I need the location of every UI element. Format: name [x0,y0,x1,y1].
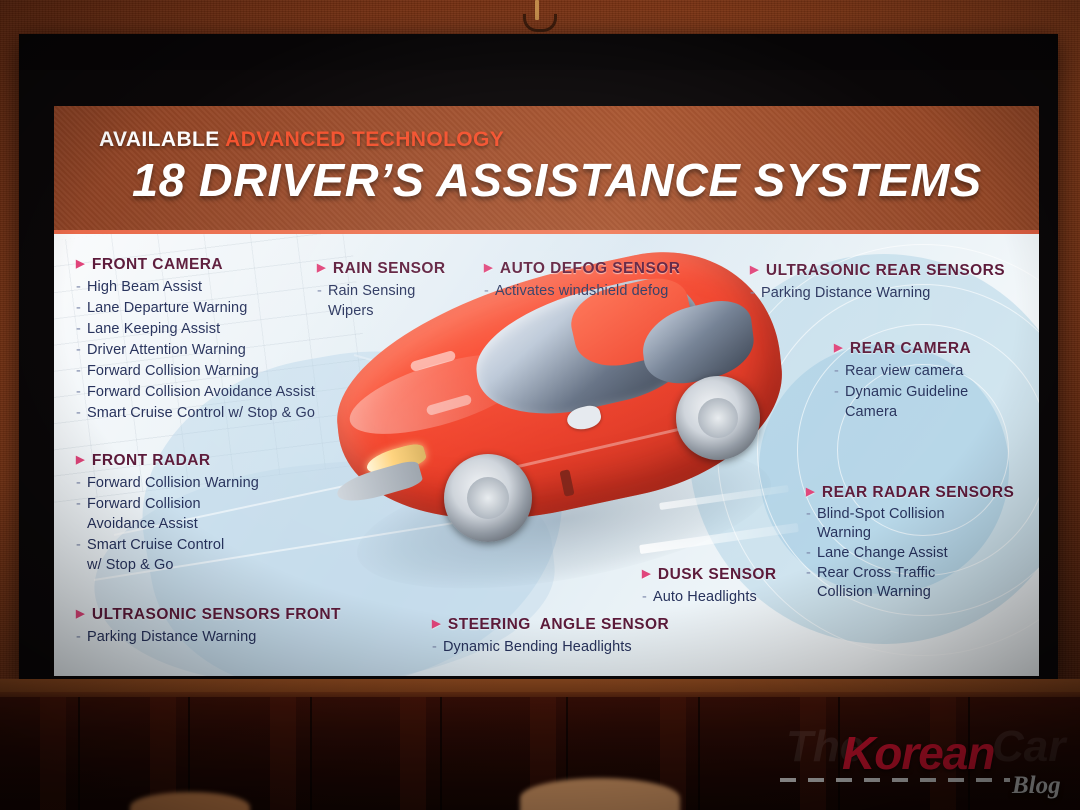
callout-title: ▶REAR CAMERA [834,340,1034,358]
slide-kicker: AVAILABLE ADVANCED TECHNOLOGY [99,128,504,152]
triangle-marker-icon: ▶ [76,452,85,469]
callout-list: -Parking Distance Warning [750,283,1030,303]
triangle-marker-icon: ▶ [317,260,326,277]
callout-title: ▶ULTRASONIC REAR SENSORS [750,262,1030,280]
callout-rear-camera: ▶REAR CAMERA -Rear view camera -Dynamic … [834,340,1034,423]
callout-title: ▶RAIN SENSOR [317,260,467,278]
list-item: -Blind-Spot Collision Warning [806,505,1021,543]
triangle-marker-icon: ▶ [806,484,815,501]
callout-title: ▶REAR RADAR SENSORS [806,484,1021,502]
triangle-marker-icon: ▶ [750,262,759,279]
list-item: -Smart Cruise Control w/ Stop & Go [76,403,376,423]
kicker-available: AVAILABLE [99,128,220,151]
triangle-marker-icon: ▶ [834,340,843,357]
list-item: -Driver Attention Warning [76,340,376,360]
list-item: -Auto Headlights [642,587,817,607]
list-item: -Parking Distance Warning [76,627,386,647]
callout-auto-defog-sensor: ▶AUTO DEFOG SENSOR -Activates windshield… [484,260,734,302]
list-item: -Smart Cruise Control w/ Stop & Go [76,535,306,575]
triangle-marker-icon: ▶ [432,616,441,633]
watermark-road-dashes [780,778,1010,782]
callout-rain-sensor: ▶RAIN SENSOR -Rain Sensing Wipers [317,260,467,322]
triangle-marker-icon: ▶ [76,606,85,623]
watermark: The Car Korean Blog [780,716,1070,802]
callout-list: -Parking Distance Warning [76,627,386,647]
list-item: -Dynamic Bending Headlights [432,637,702,657]
callout-steering-angle-sensor: ▶STEERING ANGLE SENSOR -Dynamic Bending … [432,616,702,658]
callout-title: ▶FRONT RADAR [76,452,306,470]
audience-head-silhouette-2 [520,778,680,810]
slide-headline: 18 DRIVER’S ASSISTANCE SYSTEMS [132,153,982,207]
list-item: -Lane Keeping Assist [76,319,376,339]
list-item: -Rain Sensing Wipers [317,281,467,321]
list-item: -Parking Distance Warning [750,283,1030,303]
callout-title: ▶AUTO DEFOG SENSOR [484,260,734,278]
callout-list: -Activates windshield defog [484,281,734,301]
callout-list: -Rear view camera -Dynamic Guideline Cam… [834,361,1034,422]
callout-list: -Rain Sensing Wipers [317,281,467,321]
callout-dusk-sensor: ▶DUSK SENSOR -Auto Headlights [642,566,817,608]
triangle-marker-icon: ▶ [76,256,85,273]
callout-list: -Dynamic Bending Headlights [432,637,702,657]
presentation-slide: AVAILABLE ADVANCED TECHNOLOGY 18 DRIVER’… [54,106,1039,676]
list-item: -Forward Collision Warning [76,361,376,381]
watermark-korean: Korean [842,726,994,780]
list-item: -Lane Change Assist [806,544,1021,563]
callout-ultrasonic-rear-sensors: ▶ULTRASONIC REAR SENSORS -Parking Distan… [750,262,1030,304]
list-item: -Forward Collision Avoidance Assist [76,382,376,402]
callout-ultrasonic-sensors-front: ▶ULTRASONIC SENSORS FRONT -Parking Dista… [76,606,386,648]
callout-list: -Blind-Spot Collision Warning -Lane Chan… [806,505,1021,602]
list-item: -Forward Collision Warning [76,473,306,493]
slide-header: AVAILABLE ADVANCED TECHNOLOGY 18 DRIVER’… [54,106,1039,234]
callout-title: ▶STEERING ANGLE SENSOR [432,616,702,634]
list-item: -Rear view camera [834,361,1034,381]
callout-front-radar: ▶FRONT RADAR -Forward Collision Warning … [76,452,306,576]
kicker-advanced-technology: ADVANCED TECHNOLOGY [225,128,504,151]
list-item: -Rear Cross Traffic Collision Warning [806,564,1021,602]
callout-list: -Forward Collision Warning -Forward Coll… [76,473,306,575]
list-item: -Activates windshield defog [484,281,734,301]
slide-body: ▶FRONT CAMERA -High Beam Assist -Lane De… [54,234,1039,676]
callout-rear-radar-sensors: ▶REAR RADAR SENSORS -Blind-Spot Collisio… [806,484,1021,603]
screen-mount-hook-icon [523,0,551,32]
triangle-marker-icon: ▶ [642,566,651,583]
projection-screen-frame: AVAILABLE ADVANCED TECHNOLOGY 18 DRIVER’… [19,34,1058,679]
callout-list: -Auto Headlights [642,587,817,607]
callout-title: ▶DUSK SENSOR [642,566,817,584]
triangle-marker-icon: ▶ [484,260,493,277]
list-item: -Forward Collision Avoidance Assist [76,494,306,534]
screen-top-bar [19,34,1058,70]
list-item: -Dynamic Guideline Camera [834,382,1034,422]
callout-title: ▶ULTRASONIC SENSORS FRONT [76,606,386,624]
conference-room-photo: AVAILABLE ADVANCED TECHNOLOGY 18 DRIVER’… [0,0,1080,810]
watermark-blog: Blog [1012,772,1061,800]
